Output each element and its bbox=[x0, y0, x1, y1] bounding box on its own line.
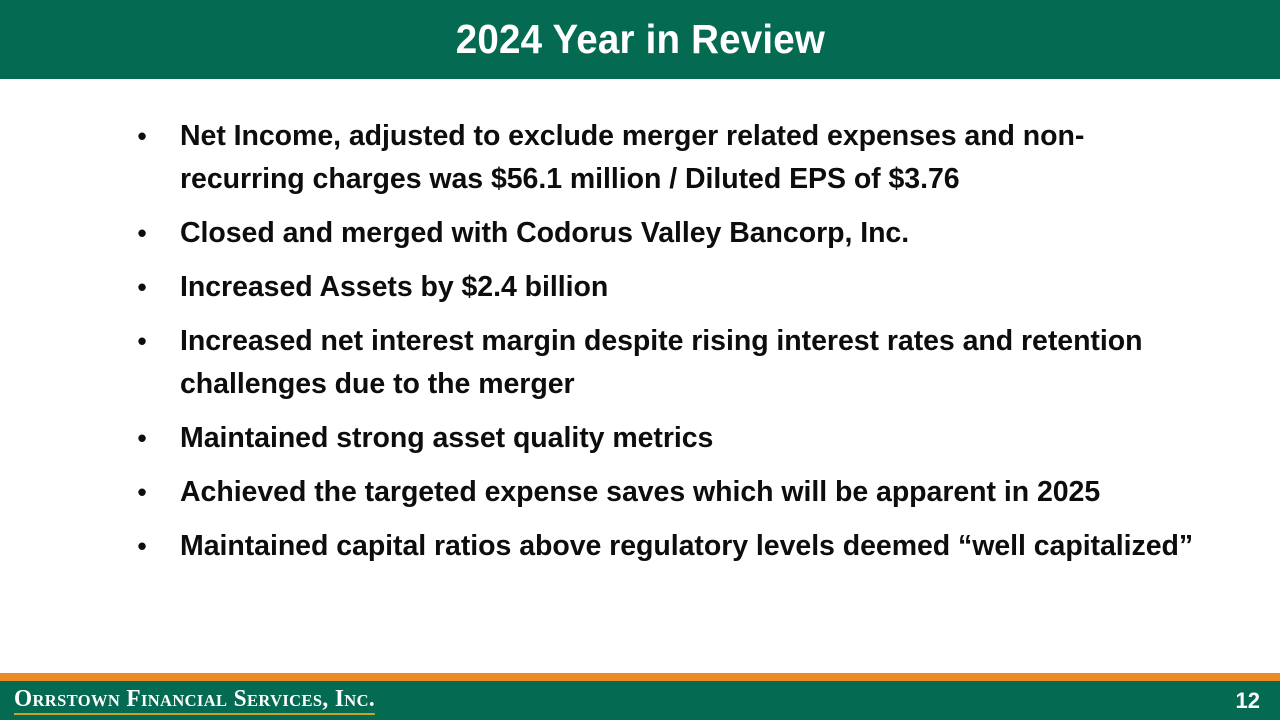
bullet-list: • Net Income, adjusted to exclude merger… bbox=[0, 115, 1280, 568]
company-logo-text: Orrstown Financial Services, Inc. bbox=[14, 687, 375, 715]
bullet-text: Maintained capital ratios above regulato… bbox=[180, 525, 1200, 568]
slide-body: • Net Income, adjusted to exclude merger… bbox=[0, 79, 1280, 673]
list-item: • Achieved the targeted expense saves wh… bbox=[0, 471, 1280, 514]
bullet-text: Maintained strong asset quality metrics bbox=[180, 417, 1200, 460]
bullet-text: Increased net interest margin despite ri… bbox=[180, 320, 1200, 406]
bullet-text: Net Income, adjusted to exclude merger r… bbox=[180, 115, 1200, 201]
company-logo: Orrstown Financial Services, Inc. bbox=[14, 681, 386, 720]
list-item: • Maintained capital ratios above regula… bbox=[0, 525, 1280, 568]
page-number: 12 bbox=[1236, 681, 1260, 720]
bullet-point-icon: • bbox=[134, 525, 150, 568]
slide-title-bar: 2024 Year in Review bbox=[0, 0, 1280, 79]
presentation-slide: 2024 Year in Review • Net Income, adjust… bbox=[0, 0, 1280, 720]
bullet-text: Increased Assets by $2.4 billion bbox=[180, 266, 1200, 309]
list-item: • Net Income, adjusted to exclude merger… bbox=[0, 115, 1280, 201]
bullet-point-icon: • bbox=[134, 115, 150, 158]
bullet-text: Achieved the targeted expense saves whic… bbox=[180, 471, 1200, 514]
list-item: • Maintained strong asset quality metric… bbox=[0, 417, 1280, 460]
bullet-point-icon: • bbox=[134, 320, 150, 363]
bullet-point-icon: • bbox=[134, 417, 150, 460]
list-item: • Closed and merged with Codorus Valley … bbox=[0, 212, 1280, 255]
footer-accent-rule bbox=[0, 673, 1280, 681]
bullet-point-icon: • bbox=[134, 212, 150, 255]
slide-title: 2024 Year in Review bbox=[455, 19, 824, 60]
bullet-point-icon: • bbox=[134, 471, 150, 514]
bullet-text: Closed and merged with Codorus Valley Ba… bbox=[180, 212, 1200, 255]
bullet-point-icon: • bbox=[134, 266, 150, 309]
list-item: • Increased Assets by $2.4 billion bbox=[0, 266, 1280, 309]
list-item: • Increased net interest margin despite … bbox=[0, 320, 1280, 406]
